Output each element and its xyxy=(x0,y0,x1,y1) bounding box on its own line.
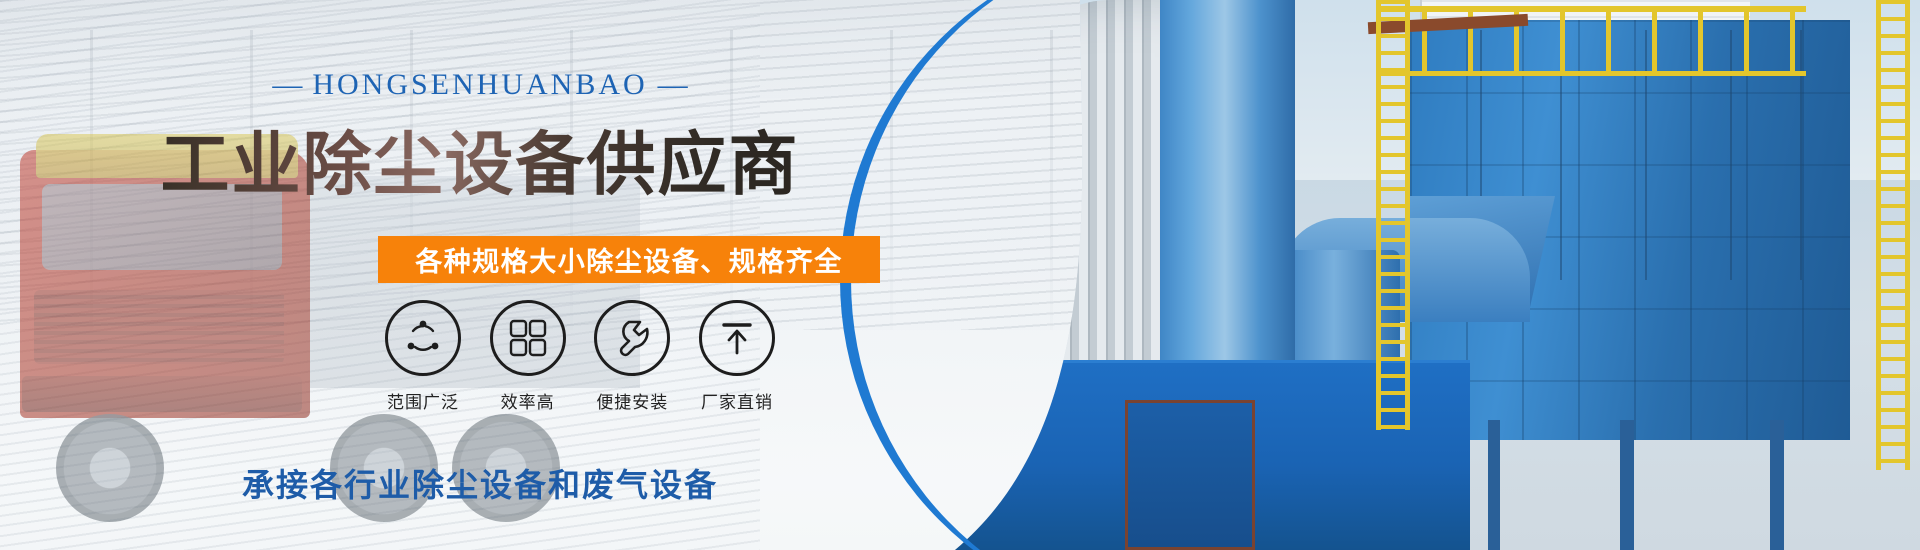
wrench-icon xyxy=(610,316,654,360)
feature-icon-ring xyxy=(385,300,461,376)
yellow-ladder xyxy=(1376,0,1410,430)
feature-icon-ring xyxy=(594,300,670,376)
feature-label: 范围广泛 xyxy=(380,388,466,413)
feature-item: 便捷安装 xyxy=(589,300,675,413)
hero-banner: —HONGSENHUANBAO— 工业除尘设备供应商 各种规格大小除尘设备、规格… xyxy=(0,0,1920,550)
support-legs xyxy=(1470,420,1830,550)
feature-label: 效率高 xyxy=(485,388,571,413)
access-door xyxy=(1125,400,1255,550)
feature-icon-ring xyxy=(490,300,566,376)
feature-label: 便捷安装 xyxy=(589,388,675,413)
network-nodes-icon xyxy=(400,315,446,361)
headline: 工业除尘设备供应商 xyxy=(0,108,960,208)
yellow-handrail xyxy=(1376,6,1806,76)
feature-icon-ring xyxy=(699,300,775,376)
feature-item: 范围广泛 xyxy=(380,300,466,413)
yellow-ladder xyxy=(1876,0,1910,470)
feature-item: 效率高 xyxy=(485,300,571,413)
brand-pinyin-text: HONGSENHUANBAO xyxy=(312,68,647,101)
banner-content: —HONGSENHUANBAO— 工业除尘设备供应商 各种规格大小除尘设备、规格… xyxy=(0,0,960,550)
dash-right: — xyxy=(648,68,698,101)
arrow-up-bar-icon xyxy=(716,317,758,359)
orange-tagline-text: 各种规格大小除尘设备、规格齐全 xyxy=(415,240,843,279)
grid-squares-icon xyxy=(507,317,549,359)
feature-item: 厂家直销 xyxy=(694,300,780,413)
dash-left: — xyxy=(262,68,312,101)
feature-label: 厂家直销 xyxy=(694,388,780,413)
brand-pinyin-eyebrow: —HONGSENHUANBAO— xyxy=(0,68,960,102)
subline: 承接各行业除尘设备和废气设备 xyxy=(0,460,960,506)
orange-tagline-bar: 各种规格大小除尘设备、规格齐全 xyxy=(378,236,880,283)
feature-list: 范围广泛 效率高 xyxy=(380,300,780,413)
